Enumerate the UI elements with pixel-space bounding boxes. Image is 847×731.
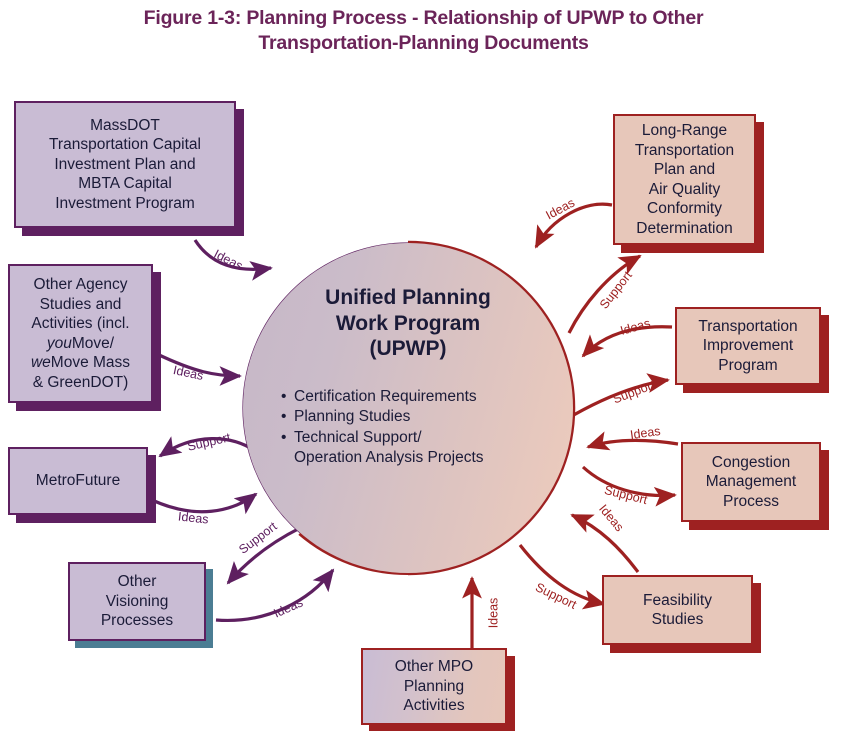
arrow-metrofuture-ideas: [152, 494, 256, 512]
node-other-agency-studies[interactable]: Other Agency Studies and Activities (inc…: [8, 264, 153, 403]
node-metrofuture-label: MetroFuture: [10, 471, 146, 491]
upwp-bullet-list: Certification Requirements Planning Stud…: [275, 387, 541, 469]
node-massdot-capital-investment[interactable]: MassDOT Transportation Capital Investmen…: [14, 101, 236, 228]
node-long-range-transportation-plan[interactable]: Long-Range Transportation Plan and Air Q…: [613, 114, 756, 245]
node-other-agency-italic-you: you: [47, 335, 72, 352]
upwp-title-line-3: (UPWP): [325, 336, 491, 362]
node-feasibility-label: Feasibility Studies: [604, 591, 751, 630]
node-other-mpo-label: Other MPO Planning Activities: [363, 657, 505, 716]
edge-label-other-mpo-ideas: Ideas: [486, 598, 500, 629]
upwp-circle-content: Unified Planning Work Program (UPWP) Cer…: [243, 243, 573, 573]
upwp-bullet-2: Planning Studies: [281, 407, 541, 428]
node-other-visioning-label: Other Visioning Processes: [70, 572, 204, 631]
node-cmp-label: Congestion Management Process: [683, 453, 819, 512]
node-feasibility-studies[interactable]: Feasibility Studies: [602, 575, 753, 645]
node-metrofuture[interactable]: MetroFuture: [8, 447, 148, 515]
node-other-mpo-planning-activities[interactable]: Other MPO Planning Activities: [361, 648, 507, 725]
arrow-feasibility-ideas: [572, 515, 638, 572]
figure-canvas: Figure 1-3: Planning Process - Relations…: [0, 0, 847, 731]
node-other-visioning-processes[interactable]: Other Visioning Processes: [68, 562, 206, 641]
upwp-title: Unified Planning Work Program (UPWP): [325, 285, 491, 362]
upwp-bullet-1: Certification Requirements: [281, 387, 541, 408]
node-congestion-management-process[interactable]: Congestion Management Process: [681, 442, 821, 522]
node-other-agency-label: Other Agency Studies and Activities (inc…: [10, 275, 151, 392]
upwp-bullet-3-continued: Operation Analysis Projects: [281, 448, 541, 469]
upwp-title-line-1: Unified Planning: [325, 285, 491, 311]
node-tip-label: Transportation Improvement Program: [677, 317, 819, 376]
upwp-bullet-3: Technical Support/: [281, 428, 541, 449]
node-other-agency-italic-we: we: [31, 354, 51, 371]
node-massdot-label: MassDOT Transportation Capital Investmen…: [16, 116, 234, 214]
upwp-title-line-2: Work Program: [325, 311, 491, 337]
node-transportation-improvement-program[interactable]: Transportation Improvement Program: [675, 307, 821, 385]
node-lrtp-label: Long-Range Transportation Plan and Air Q…: [615, 121, 754, 238]
